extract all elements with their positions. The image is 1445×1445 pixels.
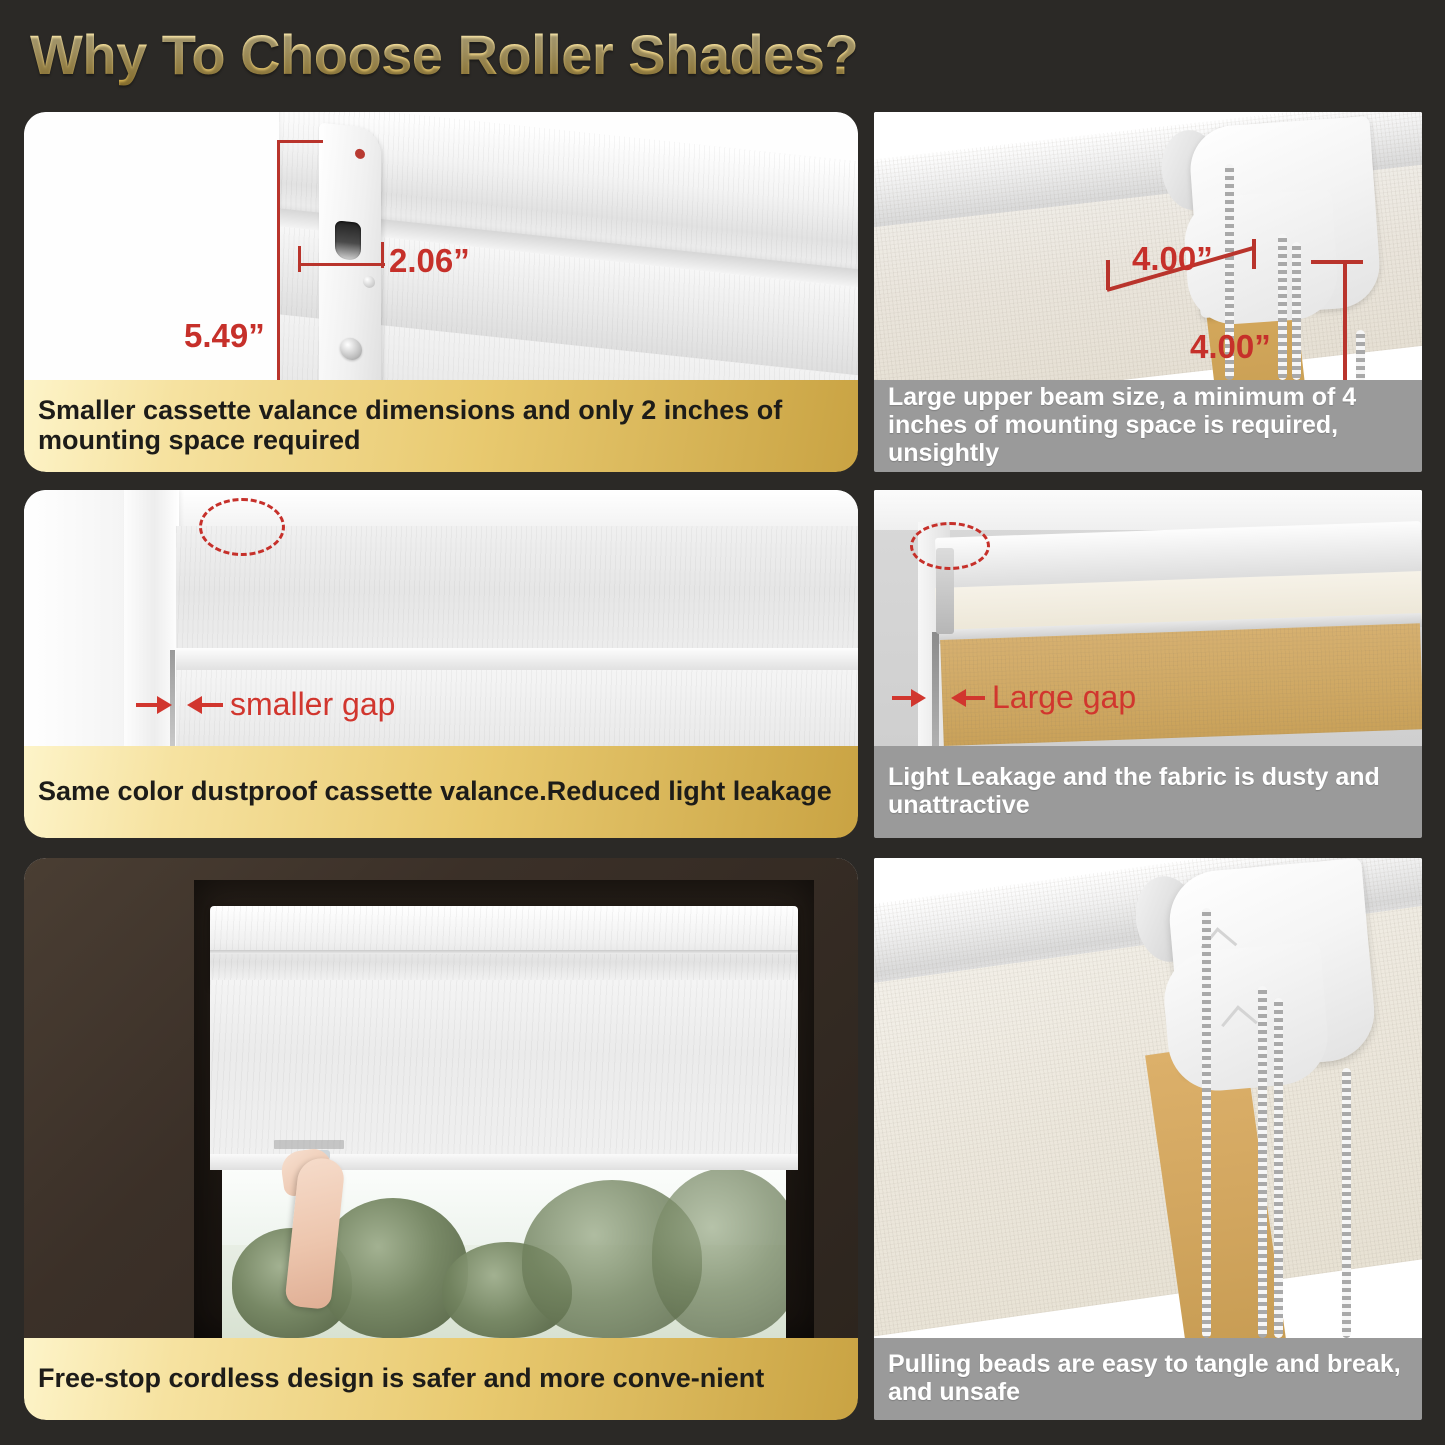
bead-chain-3 bbox=[1292, 242, 1301, 380]
panel-4-image: Large gap bbox=[874, 490, 1422, 746]
panel-5-caption-text: Free-stop cordless design is safer and m… bbox=[38, 1363, 764, 1393]
panel-3-caption-text: Same color dustproof cassette valance.Re… bbox=[38, 776, 832, 806]
panel-6-caption: Pulling beads are easy to tangle and bre… bbox=[874, 1338, 1422, 1420]
dim-horizontal-tick-right bbox=[381, 242, 384, 268]
page-title: Why To Choose Roller Shades? bbox=[30, 22, 858, 87]
shade-texture bbox=[210, 980, 798, 1162]
bead-chain-2 bbox=[1278, 234, 1287, 380]
panel-pro-small-gap: smaller gap Same color dustproof cassett… bbox=[24, 490, 858, 838]
cassette-shade-upper bbox=[176, 526, 858, 654]
annotation-large-gap: Large gap bbox=[992, 679, 1136, 716]
panel-con-bead-chain: Pulling beads are easy to tangle and bre… bbox=[874, 858, 1422, 1420]
bead-chain-4 bbox=[1356, 330, 1365, 380]
valance-texture bbox=[210, 906, 798, 986]
gap-arrow-right-stem bbox=[201, 703, 223, 707]
bead-chain-loop-3[interactable] bbox=[1274, 998, 1283, 1338]
dim-label-width: 2.06” bbox=[389, 242, 470, 280]
panel-con-large-gap: Large gap Light Leakage and the fabric i… bbox=[874, 490, 1422, 838]
panel-2-image: 4.00” 4.00” bbox=[874, 112, 1422, 380]
large-gap-edge bbox=[932, 632, 939, 746]
end-cap-screw bbox=[340, 337, 362, 361]
bead-chain-loop-1[interactable] bbox=[1202, 908, 1211, 1338]
panel-con-large-beam: 4.00” 4.00” Large upper beam size, a min… bbox=[874, 112, 1422, 472]
cassette-valance-illustration bbox=[279, 112, 858, 380]
dim-v-line bbox=[1343, 260, 1347, 380]
panel-pro-cordless-design: Free-stop cordless design is safer and m… bbox=[24, 858, 858, 1420]
valance-end-cap bbox=[319, 123, 381, 380]
tree-2 bbox=[318, 1198, 468, 1338]
gap-arrow-left-icon bbox=[951, 689, 966, 707]
dim-label-beam-height: 4.00” bbox=[1190, 328, 1271, 366]
panel-1-caption-text: Smaller cassette valance dimensions and … bbox=[38, 395, 844, 455]
bead-chain-loop-2[interactable] bbox=[1258, 986, 1267, 1338]
panel-3-caption: Same color dustproof cassette valance.Re… bbox=[24, 746, 858, 838]
gap-arrow-right-stem bbox=[965, 696, 985, 700]
dim-label-height: 5.49” bbox=[184, 317, 265, 355]
panel-4-caption-text: Light Leakage and the fabric is dusty an… bbox=[888, 763, 1408, 819]
gap-arrow-right-icon bbox=[911, 689, 926, 707]
panel-1-caption: Smaller cassette valance dimensions and … bbox=[24, 380, 858, 472]
panel-3-image: smaller gap bbox=[24, 490, 858, 746]
dim-h-tick-left bbox=[1106, 260, 1110, 290]
roller-shade-fabric bbox=[210, 980, 798, 1162]
dim-horizontal-tick-left bbox=[298, 246, 301, 272]
panel-5-image bbox=[24, 858, 858, 1338]
tree-5 bbox=[652, 1170, 786, 1338]
panel-2-caption: Large upper beam size, a minimum of 4 in… bbox=[874, 380, 1422, 472]
panel-pro-cassette-dimensions: 5.49” 2.06” Smaller cassette valance dim… bbox=[24, 112, 858, 472]
dim-vertical-tick-top bbox=[277, 140, 323, 143]
dim-horizontal-line bbox=[299, 263, 385, 266]
gap-arrow-left-icon bbox=[187, 696, 202, 714]
panel-6-caption-text: Pulling beads are easy to tangle and bre… bbox=[888, 1350, 1408, 1406]
panel-6-image bbox=[874, 858, 1422, 1338]
gap-arrow-left-stem bbox=[892, 696, 912, 700]
highlight-circle-icon bbox=[910, 522, 990, 570]
panel-1-image: 5.49” 2.06” bbox=[24, 112, 858, 380]
shade-texture bbox=[176, 526, 858, 654]
panel-2-caption-text: Large upper beam size, a minimum of 4 in… bbox=[888, 383, 1408, 467]
panel-5-caption: Free-stop cordless design is safer and m… bbox=[24, 1338, 858, 1420]
brand-logo-strip bbox=[274, 1140, 344, 1149]
end-cap-slot bbox=[335, 220, 361, 261]
end-cap-marker-dot bbox=[355, 148, 365, 159]
valance-shadow-line bbox=[210, 950, 798, 954]
gap-arrow-left-stem bbox=[136, 703, 158, 707]
panel-4-caption: Light Leakage and the fabric is dusty an… bbox=[874, 746, 1422, 838]
bracket-arrow-icon-2 bbox=[1221, 1005, 1258, 1042]
end-cap-screw-small bbox=[363, 275, 375, 288]
gap-arrow-right-icon bbox=[157, 696, 172, 714]
bead-chain-loop-4[interactable] bbox=[1342, 1068, 1351, 1338]
dim-vertical-line bbox=[277, 140, 280, 380]
highlight-circle-icon bbox=[199, 498, 285, 556]
dim-h-tick-right bbox=[1252, 239, 1256, 269]
cassette-valance bbox=[210, 906, 798, 986]
dim-label-beam-width: 4.00” bbox=[1132, 240, 1213, 278]
dim-v-tick-top bbox=[1311, 260, 1363, 264]
wall-surface bbox=[24, 490, 134, 746]
mounting-bracket-lower bbox=[1160, 941, 1332, 1094]
annotation-smaller-gap: smaller gap bbox=[230, 686, 395, 723]
